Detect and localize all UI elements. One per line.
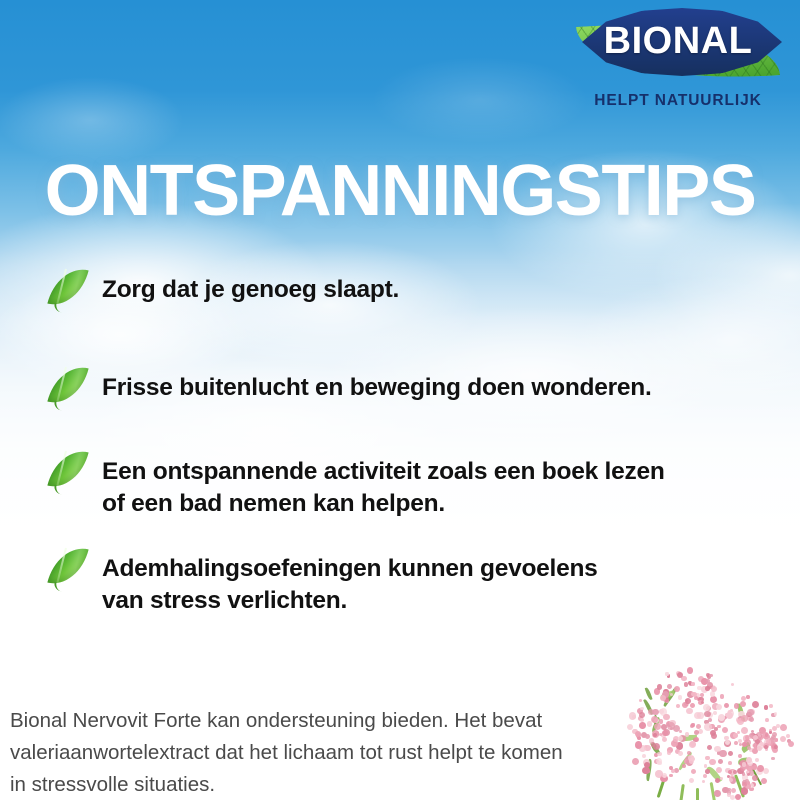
flower-blossom <box>702 780 705 783</box>
tip-text: Frisse buitenlucht en beweging doen wond… <box>102 370 652 404</box>
flower-blossom <box>718 759 724 765</box>
flower-blossom <box>697 686 702 691</box>
flower-blossom <box>769 704 773 708</box>
flower-blossom <box>659 719 663 723</box>
flower-blossom <box>674 686 680 692</box>
flower-blossom <box>667 684 672 689</box>
poster-root: BIONAL HELPT NATUURLIJK ONTSPANNINGSTIPS… <box>0 0 800 800</box>
flower-blossom <box>657 684 663 690</box>
flower-blossom <box>694 730 699 735</box>
flower-blossom <box>749 717 754 722</box>
flower-blossom <box>689 758 695 764</box>
flower-blossom <box>764 745 768 749</box>
flower-blossom <box>724 703 729 708</box>
flower-blossom <box>733 770 737 774</box>
flower-blossom <box>757 746 762 751</box>
flower-blossom <box>720 694 725 699</box>
footer-description: Bional Nervovit Forte kan ondersteuning … <box>10 705 650 800</box>
flower-blossom <box>661 724 667 730</box>
page-title: ONTSPANNINGSTIPS <box>0 155 800 227</box>
flower-blossom <box>665 672 668 675</box>
flower-blossom <box>639 699 642 702</box>
leaf-icon <box>48 444 88 496</box>
flower-blossom <box>747 709 754 716</box>
flower-blossom <box>676 704 680 708</box>
flower-blossom <box>678 751 683 756</box>
flower-blossom <box>653 733 657 737</box>
flower-blossom <box>696 724 701 729</box>
list-item: Een ontspannende activiteit zoals een bo… <box>0 454 800 521</box>
flower-stem <box>696 788 699 800</box>
flower-blossom <box>765 718 769 722</box>
flower-blossom <box>679 730 682 733</box>
flower-blossom <box>687 667 693 673</box>
flower-blossom <box>642 754 647 759</box>
tip-line: Frisse buitenlucht en beweging doen wond… <box>102 372 652 404</box>
tip-line: van stress verlichten. <box>102 585 598 617</box>
flower-blossom <box>729 778 733 782</box>
flower-blossom <box>763 768 769 774</box>
flower-blossom <box>774 712 778 716</box>
flower-blossom <box>635 741 642 748</box>
flower-stem <box>678 784 685 800</box>
flower-blossom <box>771 757 775 761</box>
flower-blossom <box>653 743 660 750</box>
flower-blossom <box>741 727 748 734</box>
flower-leaf <box>645 687 653 701</box>
flower-blossom <box>755 758 759 762</box>
flower-blossom <box>709 759 716 766</box>
flower-blossom <box>691 682 694 685</box>
footer-line: valeriaanwortelextract dat het lichaam t… <box>10 737 650 769</box>
flower-blossom <box>747 773 750 776</box>
flower-blossom <box>705 769 710 774</box>
flower-blossom <box>722 727 728 733</box>
list-item: Zorg dat je genoeg slaapt. <box>0 272 800 314</box>
flower-blossom <box>690 724 694 728</box>
footer-line: Bional Nervovit Forte kan ondersteuning … <box>10 705 650 737</box>
flower-blossom <box>747 746 751 750</box>
flower-blossom <box>775 738 779 742</box>
flower-blossom <box>757 765 764 772</box>
flower-blossom <box>632 758 639 765</box>
flower-blossom <box>678 695 682 699</box>
flower-blossom <box>714 790 721 797</box>
flower-blossom <box>629 712 636 719</box>
flower-blossom <box>669 774 673 778</box>
flower-blossom <box>704 723 711 730</box>
valerian-flowers-image <box>620 664 790 800</box>
flower-blossom <box>715 778 720 783</box>
flower-blossom <box>711 733 717 739</box>
flower-blossom <box>686 708 693 715</box>
flower-blossom <box>716 704 723 711</box>
flower-blossom <box>735 794 741 800</box>
flower-blossom <box>691 769 696 774</box>
flower-blossom <box>663 714 670 721</box>
flower-blossom <box>703 704 710 711</box>
tip-line: Zorg dat je genoeg slaapt. <box>102 274 399 306</box>
flower-blossom <box>707 745 712 750</box>
flower-blossom <box>728 761 732 765</box>
logo-tagline: HELPT NATUURLIJK <box>572 92 784 110</box>
flower-blossom <box>685 698 691 704</box>
leaf-icon <box>48 541 88 593</box>
bional-logo: BIONAL HELPT NATUURLIJK <box>572 6 784 118</box>
tips-list: Zorg dat je genoeg slaapt. Frisse buiten… <box>0 272 800 643</box>
list-item: Ademhalingsoefeningen kunnen gevoelens v… <box>0 551 800 618</box>
tip-text: Zorg dat je genoeg slaapt. <box>102 272 399 306</box>
flower-blossom <box>746 757 752 763</box>
flower-blossom <box>690 703 696 709</box>
flower-blossom <box>737 731 740 734</box>
flower-blossom <box>760 742 764 746</box>
flower-blossom <box>711 686 717 692</box>
flower-blossom <box>740 701 746 707</box>
flower-blossom <box>742 762 747 767</box>
flower-blossom <box>741 715 748 722</box>
flower-blossom <box>753 765 758 770</box>
list-item: Frisse buitenlucht en beweging doen wond… <box>0 370 800 412</box>
tip-line: Een ontspannende activiteit zoals een bo… <box>102 456 665 488</box>
flower-blossom <box>727 793 731 797</box>
flower-blossom <box>780 736 786 742</box>
flower-blossom <box>746 695 750 699</box>
logo-wordmark: BIONAL <box>572 6 784 76</box>
flower-blossom <box>739 743 742 746</box>
flower-blossom <box>708 718 712 722</box>
flower-blossom <box>752 775 758 781</box>
flower-blossom <box>719 750 726 757</box>
flower-blossom <box>684 682 688 686</box>
footer-line: in stressvolle situaties. <box>10 769 650 800</box>
flower-blossom <box>726 712 733 719</box>
flower-blossom <box>709 674 713 678</box>
flower-blossom <box>761 778 767 784</box>
tip-line: Ademhalingsoefeningen kunnen gevoelens <box>102 553 598 585</box>
flower-blossom <box>733 733 737 737</box>
flower-blossom <box>655 770 662 777</box>
flower-blossom <box>640 707 644 711</box>
flower-blossom <box>727 788 731 792</box>
flower-blossom <box>780 724 787 731</box>
flower-blossom <box>657 761 662 766</box>
flower-blossom <box>687 751 691 755</box>
flower-blossom <box>716 767 723 774</box>
flower-blossom <box>714 727 719 732</box>
flower-blossom <box>788 741 794 747</box>
flower-blossom <box>639 722 646 729</box>
flower-blossom <box>772 732 777 737</box>
flower-blossom <box>703 774 707 778</box>
flower-blossom <box>734 741 738 745</box>
tip-line: of een bad nemen kan helpen. <box>102 488 665 520</box>
flower-blossom <box>742 742 747 747</box>
flower-blossom <box>728 751 733 756</box>
flower-blossom <box>667 750 672 755</box>
flower-blossom <box>752 701 759 708</box>
flower-blossom <box>657 752 662 757</box>
flower-blossom <box>764 705 769 710</box>
flower-blossom <box>720 777 723 780</box>
flower-blossom <box>682 764 686 768</box>
tip-text: Ademhalingsoefeningen kunnen gevoelens v… <box>102 551 598 618</box>
flower-blossom <box>772 726 777 731</box>
flower-blossom <box>689 741 696 748</box>
leaf-icon <box>48 262 88 314</box>
flower-blossom <box>639 712 645 718</box>
flower-blossom <box>667 722 674 729</box>
flower-blossom <box>731 683 734 686</box>
flower-blossom <box>786 734 790 738</box>
flower-blossom <box>662 737 667 742</box>
tip-text: Een ontspannende activiteit zoals een bo… <box>102 454 665 521</box>
flower-blossom <box>774 745 778 749</box>
flower-blossom <box>713 711 717 715</box>
flower-blossom <box>642 767 649 774</box>
flower-blossom <box>704 711 710 717</box>
flower-blossom <box>731 788 736 793</box>
leaf-icon <box>48 360 88 412</box>
flower-blossom <box>647 721 652 726</box>
flower-blossom <box>765 733 768 736</box>
flower-blossom <box>689 778 694 783</box>
